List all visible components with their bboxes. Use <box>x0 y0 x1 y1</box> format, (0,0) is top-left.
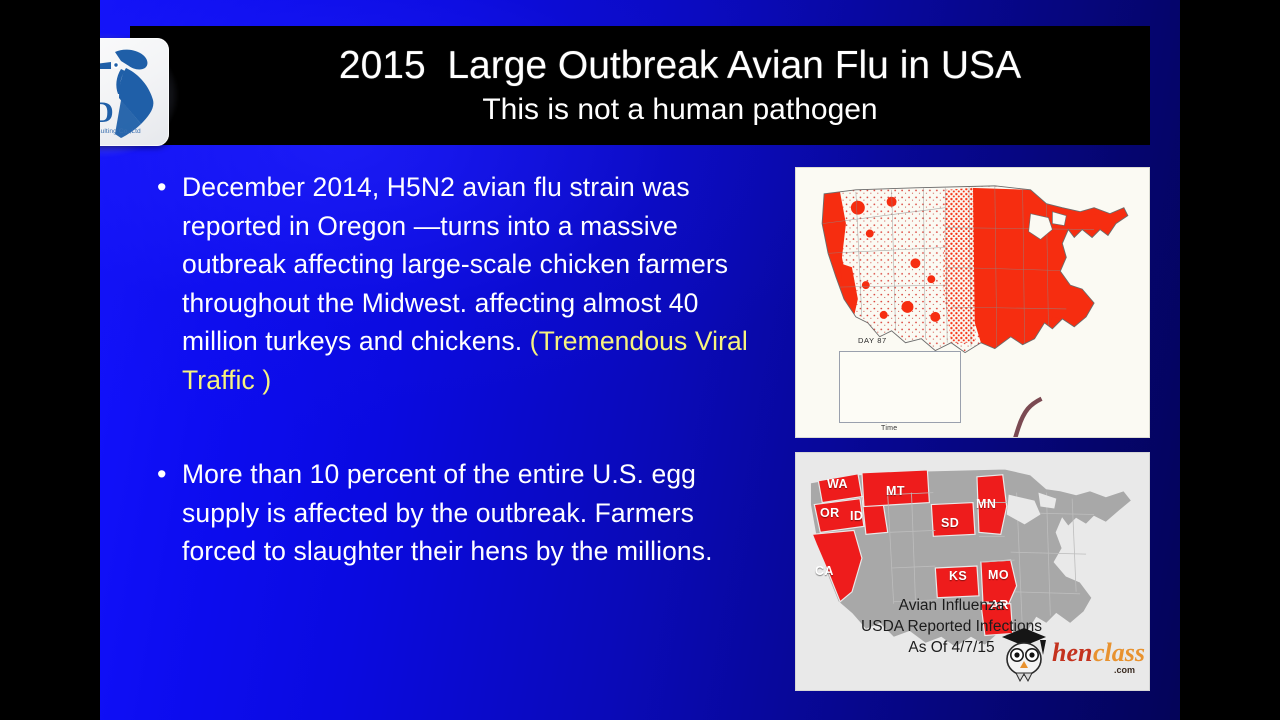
inset-axis-label: Time <box>881 425 898 432</box>
henclass-text-tld: .com <box>1114 665 1135 675</box>
page-title: 2015 Large Outbreak Avian Flu in USA <box>339 43 1021 89</box>
page-subtitle: This is not a human pathogen <box>482 91 877 129</box>
henclass-text-primary: hen <box>1052 638 1092 667</box>
bullet-text-plain: More than 10 percent of the entire U.S. … <box>182 459 713 566</box>
henclass-watermark: hen class .com <box>996 621 1146 683</box>
usda-reported-infections-map: WA OR ID MT SD MN CA KS MO AR Avian Infl… <box>795 452 1150 691</box>
map-caption-line-1: Avian Influenza <box>844 595 1059 616</box>
henclass-text-secondary: class <box>1093 638 1145 667</box>
list-item: • December 2014, H5N2 avian flu strain w… <box>150 168 750 399</box>
letterbox-right <box>1180 0 1280 720</box>
bullet-marker: • <box>150 455 182 493</box>
bullet-marker: • <box>150 168 182 206</box>
letterbox-left <box>0 0 100 720</box>
title-band: 2015 Large Outbreak Avian Flu in USA Thi… <box>130 26 1150 145</box>
slide-root: 2015 Large Outbreak Avian Flu in USA Thi… <box>0 0 1280 720</box>
us-spread-density-map: DAY 87 Time <box>795 167 1150 438</box>
owl-graduation-cap-icon <box>1002 628 1046 681</box>
bullet-list: • December 2014, H5N2 avian flu strain w… <box>150 168 750 571</box>
day-label: DAY 87 <box>858 336 887 345</box>
bullet-text: More than 10 percent of the entire U.S. … <box>182 455 750 571</box>
list-item: • More than 10 percent of the entire U.S… <box>150 455 750 571</box>
bullet-text: December 2014, H5N2 avian flu strain was… <box>182 168 750 399</box>
